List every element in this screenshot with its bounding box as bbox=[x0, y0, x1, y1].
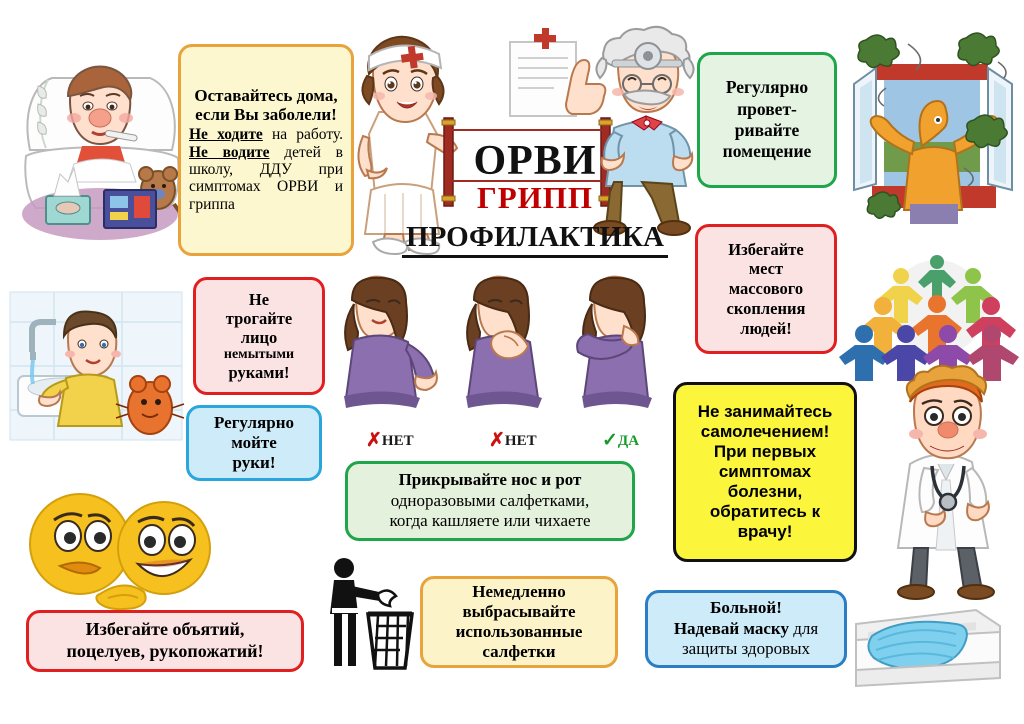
check-icon: ✓ bbox=[602, 430, 618, 451]
box-stay-home[interactable]: Оставайтесь дома, если Вы заболели! Не х… bbox=[178, 44, 354, 256]
self-med-line-2: самолечением! bbox=[698, 422, 833, 442]
touch-face-line-1: Не bbox=[224, 290, 294, 309]
ventilate-line-3: ривайте bbox=[723, 120, 812, 141]
avoid-contact-line-1: Избегайте объятий, bbox=[67, 619, 264, 641]
box-dont-touch-face[interactable]: Не трогайте лицо немытыми руками! bbox=[193, 277, 325, 395]
two-smiley-faces-kissing-illustration bbox=[24, 492, 220, 612]
box-wear-mask[interactable]: Больной! Надевай маску для защиты здоров… bbox=[645, 590, 847, 668]
touch-face-line-3: лицо bbox=[224, 328, 294, 347]
box-no-self-medication[interactable]: Не занимайтесь самолечением! При первых … bbox=[673, 382, 857, 562]
avoid-crowds-line-4: скопления bbox=[727, 299, 806, 319]
stay-home-text-1: на работу. bbox=[263, 126, 343, 143]
cross-icon: ✗ bbox=[489, 430, 505, 451]
avoid-contact-line-2: поцелуев, рукопожатий! bbox=[67, 641, 264, 663]
wear-mask-line-1: Больной! bbox=[674, 598, 818, 618]
throw-litter-in-bin-pictogram bbox=[318, 556, 416, 668]
box-avoid-crowds[interactable]: Избегайте мест массового скопления людей… bbox=[695, 224, 837, 354]
discard-line-1: Немедленно bbox=[456, 582, 583, 602]
wear-mask-tail: для bbox=[789, 619, 818, 638]
avoid-crowds-line-1: Избегайте bbox=[727, 240, 806, 260]
box-cover-nose-mouth[interactable]: Прикрывайте нос и рот одноразовыми салфе… bbox=[345, 461, 635, 541]
ventilate-line-1: Регулярно bbox=[723, 77, 812, 98]
discard-line-3: использованные bbox=[456, 622, 583, 642]
self-med-line-4: симптомах bbox=[698, 462, 833, 482]
sick-child-in-bed-illustration bbox=[8, 38, 193, 253]
self-med-line-3: При первых bbox=[698, 442, 833, 462]
box-avoid-contact[interactable]: Избегайте объятий, поцелуев, рукопожатий… bbox=[26, 610, 304, 672]
title-orvi: ОРВИ bbox=[400, 140, 670, 182]
box-stay-home-body: Не ходите на работу. Не водите детей в ш… bbox=[189, 126, 343, 213]
cough-label-text-3: ДА bbox=[618, 433, 639, 449]
ventilate-line-2: провет- bbox=[723, 99, 812, 120]
box-ventilate[interactable]: Регулярно провет- ривайте помещение bbox=[697, 52, 837, 188]
avoid-crowds-line-5: людей! bbox=[727, 319, 806, 339]
title-gripp: ГРИПП bbox=[400, 182, 670, 215]
cough-label-yes: ✓ДА bbox=[602, 429, 639, 452]
cover-bold-line: Прикрывайте нос и рот bbox=[389, 470, 590, 490]
wear-mask-line-3: защиты здоровых bbox=[674, 639, 818, 659]
box-discard-tissues[interactable]: Немедленно выбрасывайте использованные с… bbox=[420, 576, 618, 668]
document-and-thumbs-up-illustration bbox=[500, 28, 610, 138]
touch-face-line-2: трогайте bbox=[224, 309, 294, 328]
self-med-line-5: болезни, bbox=[698, 482, 833, 502]
cough-label-text-1: НЕТ bbox=[382, 433, 414, 449]
poster-canvas: Оставайтесь дома, если Вы заболели! Не х… bbox=[0, 0, 1024, 724]
stay-home-emph-2: Не водите bbox=[189, 144, 270, 161]
cover-line-2: когда кашляете или чихаете bbox=[389, 511, 590, 531]
self-med-line-1: Не занимайтесь bbox=[698, 402, 833, 422]
title-profilaktika: ПРОФИЛАКТИКА bbox=[402, 219, 668, 258]
open-window-ventilating-illustration bbox=[848, 28, 1020, 228]
ventilate-line-4: помещение bbox=[723, 141, 812, 162]
stay-home-emph-1: Не ходите bbox=[189, 126, 263, 143]
crowd-of-people-pyramid-illustration bbox=[852, 256, 1022, 374]
self-med-line-7: врачу! bbox=[698, 522, 833, 542]
avoid-crowds-line-2: мест bbox=[727, 259, 806, 279]
girl-coughing-three-poses-illustration bbox=[330, 278, 642, 428]
wash-hands-line-1: Регулярно bbox=[214, 413, 294, 433]
avoid-crowds-line-3: массового bbox=[727, 279, 806, 299]
wash-hands-line-2: мойте bbox=[214, 433, 294, 453]
box-of-surgical-masks-illustration bbox=[848, 580, 1008, 690]
cover-line-1: одноразовыми салфетками, bbox=[389, 491, 590, 511]
wear-mask-line-2: Надевай маску для bbox=[674, 619, 818, 639]
child-washing-hands-illustration bbox=[10, 292, 182, 440]
box-wash-hands[interactable]: Регулярно мойте руки! bbox=[186, 405, 322, 481]
touch-face-line-5: руками! bbox=[224, 363, 294, 382]
cross-icon: ✗ bbox=[366, 430, 382, 451]
discard-line-2: выбрасывайте bbox=[456, 602, 583, 622]
cough-label-no-1: ✗НЕТ bbox=[366, 429, 414, 452]
wear-mask-bold-2: Надевай маску bbox=[674, 619, 789, 638]
discard-line-4: салфетки bbox=[456, 642, 583, 662]
poster-title: ОРВИ ГРИПП ПРОФИЛАКТИКА bbox=[400, 140, 670, 258]
doctor-with-stethoscope-illustration bbox=[876, 368, 1016, 598]
cough-label-text-2: НЕТ bbox=[505, 433, 537, 449]
self-med-line-6: обратитесь к bbox=[698, 502, 833, 522]
cough-label-no-2: ✗НЕТ bbox=[489, 429, 537, 452]
touch-face-line-4: немытыми bbox=[224, 347, 294, 363]
wash-hands-line-3: руки! bbox=[214, 453, 294, 473]
box-stay-home-heading: Оставайтесь дома, если Вы заболели! bbox=[189, 87, 343, 124]
